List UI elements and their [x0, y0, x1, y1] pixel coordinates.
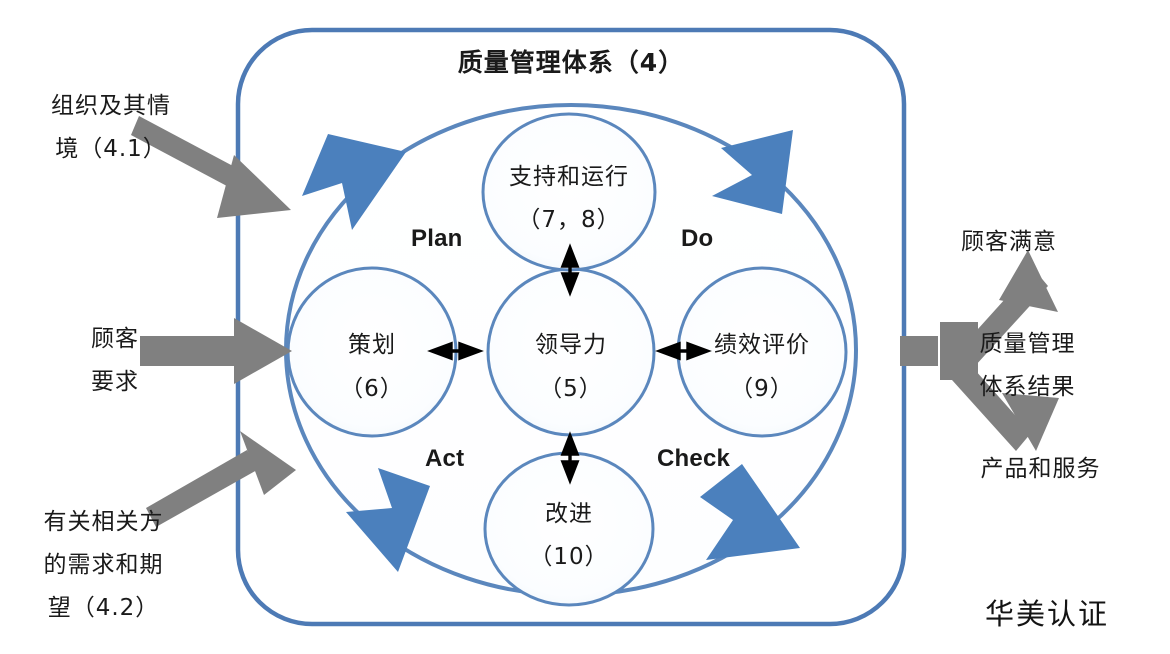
input-label-organization-context-line2: 境（4.1）: [36, 135, 186, 163]
pdca-label-do: Do: [681, 224, 713, 253]
input-label-organization-context-line1: 组织及其情: [36, 92, 186, 120]
pdca-label-plan: Plan: [411, 224, 462, 253]
node-label-planning-line1: 策划: [292, 331, 452, 359]
page-title: 质量管理体系（4）: [361, 48, 781, 79]
node-label-planning-line2: （6）: [292, 375, 452, 403]
node-label-improvement-line1: 改进: [489, 500, 649, 528]
node-label-performance-evaluation-line2: （9）: [682, 375, 842, 403]
input-label-interested-parties-line2: 的需求和期: [26, 551, 181, 579]
output-label-qms-results-line2: 体系结果: [965, 373, 1090, 401]
output-label-customer-satisfaction: 顾客满意: [944, 228, 1074, 256]
pdca-label-act: Act: [425, 444, 464, 473]
input-label-interested-parties-line1: 有关相关方: [26, 508, 181, 536]
diagram-canvas: 质量管理体系（4） 支持和运行 （7，8） 策划 （6） 领导力 （5） 绩效评…: [0, 0, 1170, 654]
output-label-products-services: 产品和服务: [963, 455, 1118, 483]
input-label-customer-requirements-line2: 要求: [65, 368, 165, 396]
node-label-performance-evaluation-line1: 绩效评价: [682, 331, 842, 359]
output-label-qms-results-line1: 质量管理: [965, 330, 1090, 358]
node-label-leadership-line1: 领导力: [491, 331, 651, 359]
node-label-leadership-line2: （5）: [491, 375, 651, 403]
pdca-label-check: Check: [657, 444, 730, 473]
input-label-interested-parties-line3: 望（4.2）: [26, 594, 181, 622]
node-label-support-operation-line2: （7，8）: [489, 206, 649, 234]
node-label-support-operation-line1: 支持和运行: [489, 163, 649, 191]
watermark: 华美认证: [985, 597, 1109, 632]
node-label-improvement-line2: （10）: [489, 543, 649, 571]
input-label-customer-requirements-line1: 顾客: [65, 325, 165, 353]
